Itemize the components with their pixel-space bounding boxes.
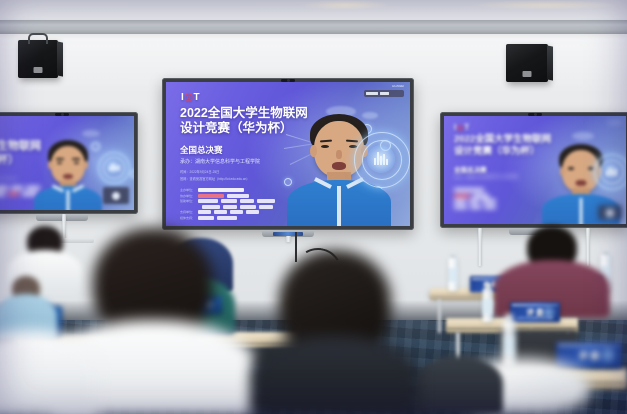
conference-room-scene: 学生物联网 为杯） ▬▬▬ ▬▬▬▬▬ [0,0,627,414]
image-vignette [0,0,627,414]
